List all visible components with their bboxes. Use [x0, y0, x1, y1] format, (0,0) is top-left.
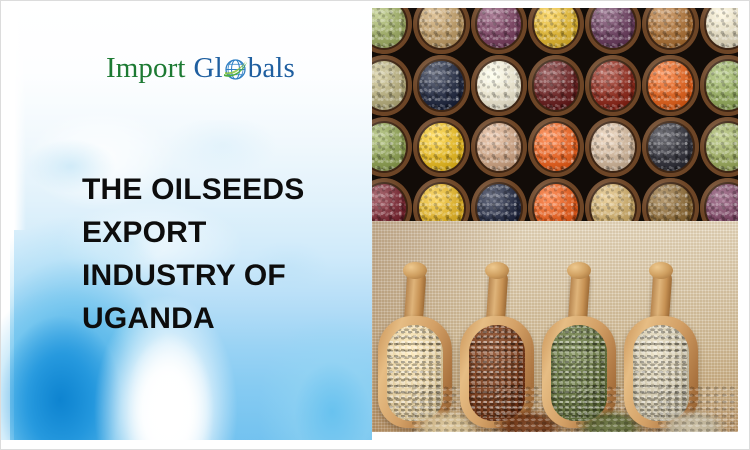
- pulse-fill: [419, 61, 463, 109]
- title-line-2: EXPORT: [82, 211, 344, 254]
- pulse-fill: [372, 184, 406, 221]
- bowls-of-pulses-photo: [372, 8, 738, 221]
- pulse-fill: [648, 61, 692, 109]
- import-globals-logo[interactable]: Import Gl bals: [106, 54, 295, 83]
- bowl-of-pulses: [528, 55, 584, 115]
- bowl-of-pulses: [372, 178, 412, 221]
- left-white-gutter: [0, 0, 26, 230]
- photo-stack: [372, 8, 738, 432]
- bottom-margin: [0, 440, 750, 450]
- bowl-of-pulses: [585, 8, 641, 54]
- pulse-fill: [534, 61, 578, 109]
- bowl-of-pulses: [471, 178, 527, 221]
- bowl-of-pulses: [413, 8, 469, 54]
- logo-word-import: Import: [106, 54, 186, 83]
- globe-icon: [223, 57, 248, 82]
- pulse-fill: [591, 184, 635, 221]
- pulse-fill: [648, 8, 692, 48]
- pulse-fill: [477, 184, 521, 221]
- logo-word-gl: Gl: [194, 54, 223, 83]
- bowl-of-pulses: [642, 117, 698, 177]
- bowl-of-pulses: [528, 117, 584, 177]
- bowl-of-pulses: [700, 8, 738, 54]
- bowl-of-pulses: [700, 55, 738, 115]
- pulse-fill: [419, 184, 463, 221]
- bowl-of-pulses: [642, 55, 698, 115]
- spilled-seeds: [658, 386, 738, 432]
- bowl-grid: [372, 8, 738, 221]
- bowl-of-pulses: [528, 8, 584, 54]
- pulse-fill: [706, 123, 738, 171]
- pulse-fill: [372, 8, 406, 48]
- bowl-of-pulses: [642, 178, 698, 221]
- title-line-1: THE OILSEEDS: [82, 168, 344, 211]
- bowl-of-pulses: [700, 117, 738, 177]
- pulse-fill: [706, 8, 738, 48]
- pulse-fill: [648, 184, 692, 221]
- pulse-fill: [706, 184, 738, 221]
- bowl-of-pulses: [413, 117, 469, 177]
- title-line-4: UGANDA: [82, 297, 344, 340]
- bowl-of-pulses: [585, 178, 641, 221]
- page-title: THE OILSEEDS EXPORT INDUSTRY OF UGANDA: [82, 168, 344, 340]
- pulse-fill: [648, 123, 692, 171]
- scoop-knob: [567, 262, 591, 279]
- title-line-3: INDUSTRY OF: [82, 254, 344, 297]
- bowl-of-pulses: [471, 117, 527, 177]
- pulse-fill: [419, 8, 463, 48]
- bowl-of-pulses: [372, 8, 412, 54]
- pulse-fill: [534, 123, 578, 171]
- pulse-fill: [477, 61, 521, 109]
- pulse-fill: [372, 123, 406, 171]
- bowl-of-pulses: [413, 178, 469, 221]
- logo-word-bals: bals: [248, 54, 295, 83]
- pulse-fill: [591, 123, 635, 171]
- pulse-fill: [591, 61, 635, 109]
- bowl-of-pulses: [372, 117, 412, 177]
- pulse-fill: [534, 8, 578, 48]
- scoop-knob: [649, 262, 673, 279]
- pulse-fill: [534, 184, 578, 221]
- title-slide: Import Gl bals THE OILSEEDS EXPORT INDUS…: [0, 0, 750, 450]
- bowl-of-pulses: [372, 55, 412, 115]
- scoop-knob: [403, 262, 427, 279]
- bowl-of-pulses: [471, 8, 527, 54]
- pulse-fill: [419, 123, 463, 171]
- bowl-of-pulses: [585, 55, 641, 115]
- bowl-of-pulses: [413, 55, 469, 115]
- bowl-of-pulses: [585, 117, 641, 177]
- bowl-of-pulses: [528, 178, 584, 221]
- pulse-fill: [706, 61, 738, 109]
- pulse-fill: [591, 8, 635, 48]
- bowl-of-pulses: [642, 8, 698, 54]
- pulse-fill: [372, 61, 406, 109]
- pulse-fill: [477, 123, 521, 171]
- seed-scoops-photo: [372, 221, 738, 432]
- pulse-fill: [477, 8, 521, 48]
- scoop-knob: [485, 262, 509, 279]
- bowl-of-pulses: [700, 178, 738, 221]
- bowl-of-pulses: [471, 55, 527, 115]
